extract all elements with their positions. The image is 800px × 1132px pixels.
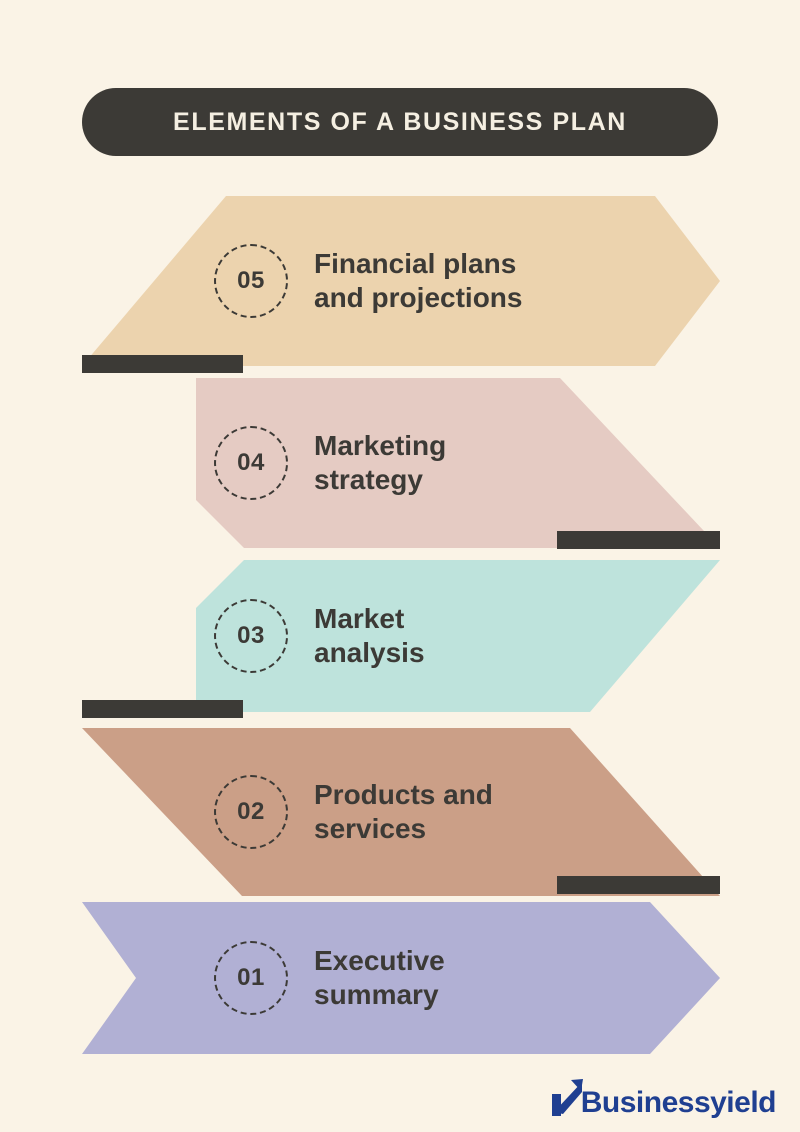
step-label-line1-05: Financial plans xyxy=(314,247,522,281)
step-number-01: 01 xyxy=(237,964,265,992)
page-title: ELEMENTS OF A BUSINESS PLAN xyxy=(173,108,627,137)
step-number-02: 02 xyxy=(237,798,265,826)
step-label-04: Marketing strategy xyxy=(314,429,446,497)
connector-bar-below-step-03 xyxy=(82,700,243,718)
step-number-badge-02: 02 xyxy=(214,775,288,849)
step-label-03: Market analysis xyxy=(314,602,425,670)
step-number-04: 04 xyxy=(237,449,265,477)
step-item-03[interactable]: 03 Market analysis xyxy=(0,560,800,712)
step-number-badge-05: 05 xyxy=(214,244,288,318)
step-label-line2-03: analysis xyxy=(314,636,425,670)
connector-bar-below-step-02 xyxy=(557,876,720,894)
step-label-line1-04: Marketing xyxy=(314,429,446,463)
step-label-01: Executive summary xyxy=(314,944,445,1012)
brand-logo: Businessyield xyxy=(549,1078,776,1118)
step-label-line2-04: strategy xyxy=(314,463,446,497)
step-number-badge-01: 01 xyxy=(214,941,288,1015)
step-label-line1-02: Products and xyxy=(314,778,493,812)
step-label-line2-02: services xyxy=(314,812,493,846)
step-label-05: Financial plans and projections xyxy=(314,247,522,315)
connector-bar-below-step-05 xyxy=(82,355,243,373)
step-label-02: Products and services xyxy=(314,778,493,846)
step-item-05[interactable]: 05 Financial plans and projections xyxy=(0,196,800,366)
arrow-up-icon xyxy=(549,1078,583,1118)
step-number-03: 03 xyxy=(237,622,265,650)
connector-bar-below-step-04 xyxy=(557,531,720,549)
brand-name: Businessyield xyxy=(581,1088,776,1118)
steps-list: 05 Financial plans and projections 04 Ma… xyxy=(0,196,800,1056)
step-item-02[interactable]: 02 Products and services xyxy=(0,728,800,896)
step-number-badge-04: 04 xyxy=(214,426,288,500)
page-title-banner: ELEMENTS OF A BUSINESS PLAN xyxy=(82,88,718,156)
step-label-line1-01: Executive xyxy=(314,944,445,978)
step-label-line1-03: Market xyxy=(314,602,425,636)
step-item-04[interactable]: 04 Marketing strategy xyxy=(0,378,800,548)
step-label-line2-05: and projections xyxy=(314,281,522,315)
step-item-01[interactable]: 01 Executive summary xyxy=(0,902,800,1054)
step-number-05: 05 xyxy=(237,267,265,295)
step-number-badge-03: 03 xyxy=(214,599,288,673)
step-label-line2-01: summary xyxy=(314,978,445,1012)
